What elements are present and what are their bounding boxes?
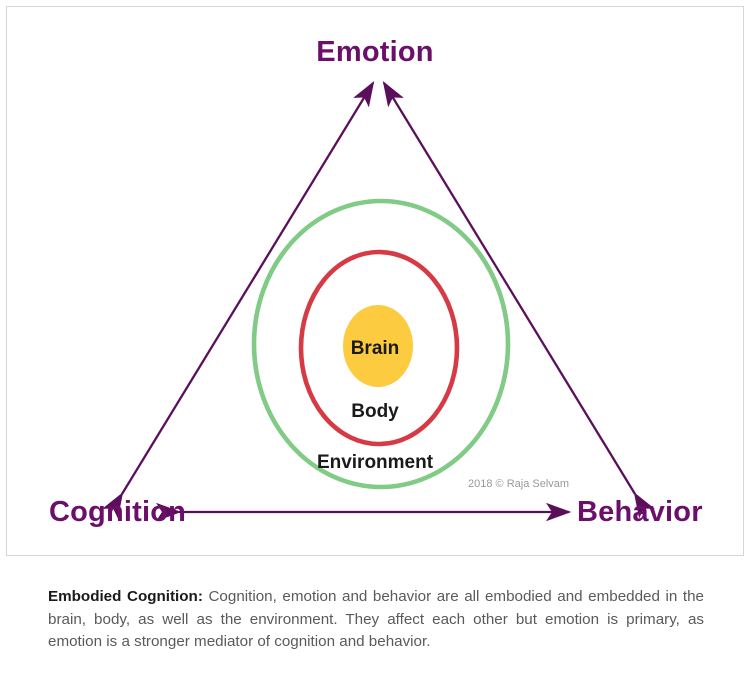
vertex-label-behavior: Behavior <box>577 498 703 527</box>
caption-text: Embodied Cognition: Cognition, emotion a… <box>48 586 704 654</box>
vertex-label-emotion: Emotion <box>7 38 743 67</box>
diagram-card: Emotion Cognition Behavior Brain Body En… <box>6 6 744 556</box>
arrow-cognition-emotion <box>122 83 373 494</box>
ring-label-brain: Brain <box>7 339 743 358</box>
arrow-behavior-emotion <box>384 83 635 494</box>
ring-label-environment: Environment <box>7 453 743 472</box>
ring-label-body: Body <box>7 402 743 421</box>
vertex-label-cognition: Cognition <box>49 498 186 527</box>
copyright-notice: 2018 © Raja Selvam <box>468 478 569 490</box>
caption-lead: Embodied Cognition: <box>48 588 203 605</box>
diagram-page: Emotion Cognition Behavior Brain Body En… <box>0 0 750 675</box>
diagram-canvas <box>7 7 744 556</box>
